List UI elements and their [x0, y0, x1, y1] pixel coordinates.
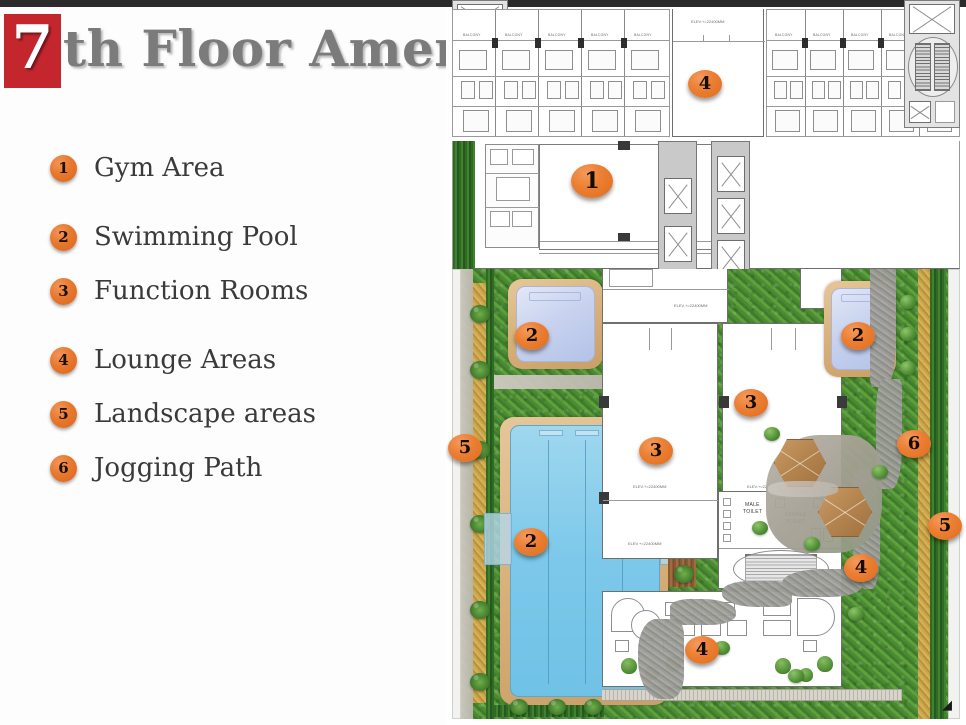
jogging-path-segment	[870, 269, 896, 387]
shrub	[764, 427, 780, 441]
column	[837, 396, 847, 408]
pool-step	[529, 292, 581, 301]
palm-tree	[584, 699, 602, 715]
pool-step	[575, 430, 599, 436]
column	[621, 38, 627, 48]
bath-furniture	[850, 81, 863, 99]
unit-grid: BALCONY BALCONY BALCONY BALCONY BALCONY	[453, 10, 669, 136]
unit-divider	[881, 10, 882, 136]
elevator-core	[658, 141, 750, 283]
shrub	[872, 465, 888, 479]
changing-rooms	[485, 144, 539, 248]
palm-tree	[470, 601, 490, 619]
bath-furniture	[461, 81, 475, 99]
jogging-path-segment	[638, 619, 684, 699]
pool-ladder	[484, 513, 512, 565]
column	[618, 141, 630, 150]
bedroom-furniture	[545, 50, 573, 70]
bath-furniture	[828, 81, 841, 99]
stair-run	[915, 43, 931, 91]
unit-divider	[805, 10, 806, 136]
wall	[603, 289, 729, 290]
bath-furniture	[565, 81, 579, 99]
balcony-label: BALCONY	[775, 33, 793, 37]
lounge-chair	[615, 640, 629, 652]
plan-top-strip	[446, 0, 966, 7]
elevation-note: ELEV.+=22400MM	[674, 303, 707, 308]
bath-furniture	[812, 81, 825, 99]
balcony-label: BALCONY	[591, 33, 609, 37]
bedroom-furniture	[502, 50, 530, 70]
shaft-x-icon	[909, 4, 955, 34]
unit-divider	[538, 10, 539, 136]
stair-run	[934, 43, 950, 91]
residential-wing-west: BALCONY BALCONY BALCONY BALCONY BALCONY	[452, 9, 670, 137]
living-furniture	[775, 110, 800, 132]
unit-wall	[453, 106, 670, 107]
lounge-table	[763, 620, 791, 636]
slide-root: 7 th Floor Amenities 1 Gym Area 2 Swimmi…	[0, 0, 966, 725]
column	[599, 492, 609, 504]
marker-lounge-south[interactable]: 4	[685, 636, 719, 664]
floor-plan[interactable]: BALCONY BALCONY BALCONY BALCONY BALCONY	[446, 0, 966, 725]
floor-number-badge: 7	[4, 14, 61, 88]
unit-divider	[624, 10, 625, 136]
lounge-chair	[803, 640, 817, 652]
legend-item-gym[interactable]: 1 Gym Area	[50, 150, 440, 186]
legend-item-jogging-path[interactable]: 6 Jogging Path	[50, 450, 440, 486]
shrub	[752, 521, 768, 535]
shrub	[900, 295, 916, 309]
fixture	[490, 211, 510, 227]
legend-label-2: Swimming Pool	[94, 224, 298, 250]
hedge-east	[930, 269, 946, 719]
page-title: 7 th Floor Amenities	[4, 14, 446, 88]
legend-badge-5: 5	[50, 401, 77, 428]
planter-tree	[817, 656, 833, 672]
corridor-wall	[453, 40, 670, 41]
balcony-label: BALCONY	[548, 33, 566, 37]
bath-furniture	[866, 81, 879, 99]
shrub	[788, 669, 804, 683]
living-furniture	[813, 110, 838, 132]
column	[599, 396, 609, 408]
marker-pool-east[interactable]: 2	[841, 322, 875, 350]
balcony-label: BALCONY	[813, 33, 831, 37]
flowerbed-west	[473, 283, 486, 703]
legend-badge-6: 6	[50, 455, 77, 482]
jogging-path-segment	[722, 581, 792, 607]
unit-divider	[843, 10, 844, 136]
bedroom-furniture	[459, 50, 487, 70]
column	[840, 38, 846, 48]
elevator-cab	[664, 178, 692, 214]
marker-lounge-north[interactable]: 4	[688, 70, 722, 98]
marker-lap-pool[interactable]: 2	[514, 528, 548, 556]
bath-furniture	[774, 81, 787, 99]
shaft-x-icon	[909, 101, 931, 123]
legend-label-1: Gym Area	[94, 155, 224, 181]
legend-label-6: Jogging Path	[94, 455, 262, 481]
wall	[603, 500, 719, 501]
marker-function-room-east[interactable]: 3	[734, 389, 768, 417]
balcony-label: BALCONY	[634, 33, 652, 37]
north-arrow-icon: ◢	[940, 699, 954, 713]
bedroom-furniture	[810, 50, 836, 70]
lounge-sofa-arc	[797, 598, 835, 636]
elevator-bank-east	[711, 141, 750, 283]
elevation-note: ELEV.+=22400MM	[691, 19, 724, 24]
column	[535, 38, 541, 48]
flowerbed-east	[918, 269, 930, 719]
lap-lane-line	[585, 440, 586, 684]
top-dark-strip	[0, 0, 446, 7]
sky-lobby: ELEV.+=22400MM	[672, 9, 764, 137]
site-boundary-east	[948, 269, 960, 719]
amenities-legend: 1 Gym Area 2 Swimming Pool 3 Function Ro…	[50, 150, 440, 486]
shrub	[900, 361, 916, 375]
marker-pool-west-upper[interactable]: 2	[515, 322, 549, 350]
fixture	[723, 510, 731, 518]
door-swing	[795, 328, 796, 350]
fixture	[496, 177, 530, 201]
bath-furniture	[522, 81, 536, 99]
palm-tree	[470, 305, 490, 323]
fixture	[512, 149, 534, 165]
balcony-label: BALCONY	[463, 33, 481, 37]
male-toilet-label-2: TOILET	[743, 509, 762, 515]
bath-furniture	[633, 81, 647, 99]
column	[878, 38, 884, 48]
door-swing	[671, 328, 672, 350]
door-swing	[649, 328, 650, 350]
elevator-cab	[717, 198, 745, 234]
legend-item-function-rooms[interactable]: 3 Function Rooms	[50, 273, 440, 309]
garden-walk	[768, 481, 838, 497]
legend-badge-3: 3	[50, 278, 77, 305]
column	[492, 38, 498, 48]
page-title-text: th Floor Amenities	[63, 24, 446, 74]
balcony-label: BALCONY	[851, 33, 869, 37]
marker-lounge-garden[interactable]: 4	[844, 554, 878, 582]
balcony-label: BALCONY	[505, 33, 523, 37]
bedroom-furniture	[772, 50, 798, 70]
legend-label-4: Lounge Areas	[94, 347, 276, 373]
lap-lane-line	[548, 440, 549, 684]
partition	[486, 173, 540, 174]
living-furniture	[549, 110, 575, 132]
elevator-cab	[717, 156, 745, 192]
core-fixture	[935, 101, 955, 123]
lounge-table	[727, 620, 747, 636]
shrub	[900, 327, 916, 341]
perimeter-walk-west	[461, 269, 473, 719]
legend-label-3: Function Rooms	[94, 278, 308, 304]
planter-tree	[621, 658, 637, 674]
legend-badge-2: 2	[50, 224, 77, 251]
service-counter	[609, 269, 653, 287]
marker-landscape-west[interactable]: 5	[448, 434, 482, 462]
pool-connector-walk	[494, 375, 610, 389]
elevator-bank-west	[658, 141, 697, 283]
legend-item-lounge-areas[interactable]: 4 Lounge Areas	[50, 342, 440, 378]
unit-wall	[453, 76, 670, 77]
shrub	[804, 537, 820, 551]
marker-gym-area[interactable]: 1	[571, 164, 613, 198]
hedge-west	[486, 269, 494, 719]
door-swing	[703, 35, 704, 42]
shrub	[848, 607, 864, 621]
column	[802, 38, 808, 48]
palm-tree	[470, 361, 490, 379]
marker-function-room-west[interactable]: 3	[639, 437, 673, 465]
fixture	[723, 498, 731, 506]
legend-badge-1: 1	[50, 155, 77, 182]
bedroom-furniture	[631, 50, 659, 70]
door-swing	[729, 35, 730, 42]
bedroom-furniture	[848, 50, 874, 70]
living-furniture	[635, 110, 661, 132]
bedroom-furniture	[588, 50, 616, 70]
column	[578, 38, 584, 48]
bath-furniture	[888, 81, 901, 99]
core-northeast	[904, 0, 960, 128]
palm-tree	[510, 699, 528, 715]
bath-furniture	[608, 81, 622, 99]
site-boundary-west	[452, 269, 461, 719]
green-strip-west	[453, 141, 475, 269]
living-furniture	[463, 110, 489, 132]
unit-divider	[581, 10, 582, 136]
legend-panel: 7 th Floor Amenities 1 Gym Area 2 Swimmi…	[0, 0, 446, 725]
marker-jogging-path[interactable]: 6	[897, 430, 931, 458]
palm-tree	[470, 673, 490, 691]
elevation-note: ELEV.+=22400MM	[633, 484, 666, 489]
palm-tree	[674, 565, 694, 583]
unit-divider	[495, 10, 496, 136]
lobby-wall	[673, 41, 765, 42]
door-swing	[771, 328, 772, 350]
elevation-note: ELEV.+=22400MM	[628, 541, 661, 546]
legend-item-swimming-pool[interactable]: 2 Swimming Pool	[50, 219, 440, 255]
bath-furniture	[790, 81, 803, 99]
fixture	[723, 522, 731, 530]
bath-furniture	[651, 81, 665, 99]
palm-tree	[548, 699, 566, 715]
living-furniture	[592, 110, 618, 132]
legend-item-landscape-areas[interactable]: 5 Landscape areas	[50, 396, 440, 432]
legend-label-5: Landscape areas	[94, 401, 316, 427]
bath-furniture	[504, 81, 518, 99]
elevator-cab	[664, 226, 692, 262]
marker-landscape-east[interactable]: 5	[928, 512, 962, 540]
legend-badge-4: 4	[50, 347, 77, 374]
pool-step	[539, 430, 563, 436]
living-furniture	[506, 110, 532, 132]
fixture	[512, 211, 532, 227]
living-furniture	[851, 110, 876, 132]
partition	[486, 207, 540, 208]
floor-number: 7	[12, 18, 54, 78]
male-toilet-label: MALE	[745, 502, 760, 508]
function-lobby-north	[602, 269, 728, 323]
bath-furniture	[547, 81, 561, 99]
bath-furniture	[479, 81, 493, 99]
column	[719, 396, 729, 408]
bath-furniture	[590, 81, 604, 99]
fixture	[723, 534, 731, 542]
fixture	[490, 149, 508, 165]
